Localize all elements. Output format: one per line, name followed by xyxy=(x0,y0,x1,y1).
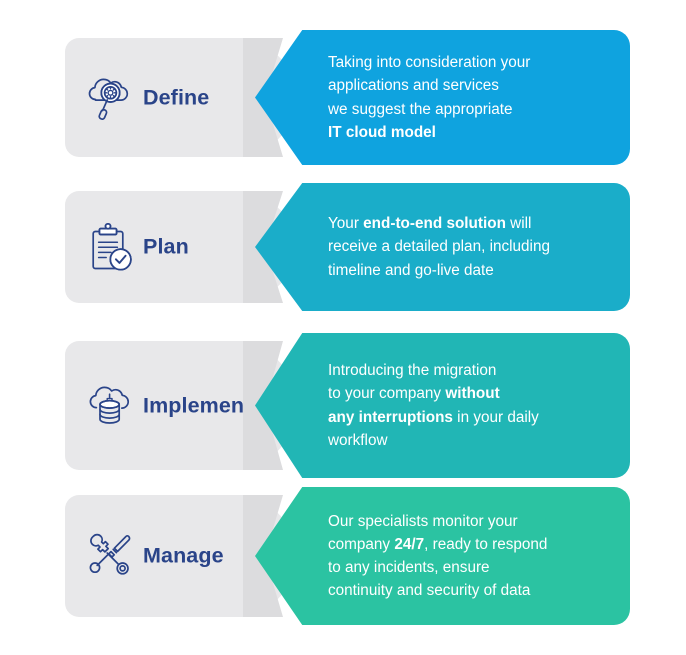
desc-line: timeline and go-live date xyxy=(328,259,550,282)
clipboard-check-icon xyxy=(81,218,139,276)
desc-line: Taking into consideration your xyxy=(328,51,530,74)
desc-line: Introducing the migration xyxy=(328,359,539,382)
step-label-text: Plan xyxy=(143,235,189,260)
step-description-panel-manage: Our specialists monitor yourcompany 24/7… xyxy=(255,487,630,625)
step-description-text: Introducing the migrationto your company… xyxy=(255,359,559,452)
desc-line: receive a detailed plan, including xyxy=(328,235,550,258)
desc-line: Your end-to-end solution will xyxy=(328,212,550,235)
cloud-magnifier-gear-icon xyxy=(81,69,139,127)
step-description-panel-plan: Your end-to-end solution willreceive a d… xyxy=(255,183,630,311)
step-label-text: Manage xyxy=(143,544,224,569)
step-description-panel-define: Taking into consideration yourapplicatio… xyxy=(255,30,630,165)
step-row: Plan Your end-to-end solution willreceiv… xyxy=(0,183,686,311)
step-row: Implement Introducing the migrationto yo… xyxy=(0,333,686,478)
desc-line: applications and services xyxy=(328,74,530,97)
desc-line: to any incidents, ensure xyxy=(328,556,547,579)
step-description-text: Your end-to-end solution willreceive a d… xyxy=(255,212,570,282)
process-steps-infographic: Define Taking into consideration yourapp… xyxy=(0,0,686,655)
step-row: Define Taking into consideration yourapp… xyxy=(0,30,686,165)
desc-line: workflow xyxy=(328,429,539,452)
wrench-screwdriver-icon xyxy=(81,527,139,585)
step-description-text: Our specialists monitor yourcompany 24/7… xyxy=(255,510,567,603)
desc-line: company 24/7, ready to respond xyxy=(328,533,547,556)
step-description-text: Taking into consideration yourapplicatio… xyxy=(255,51,550,144)
cloud-database-icon xyxy=(81,377,139,435)
step-row: Manage Our specialists monitor yourcompa… xyxy=(0,487,686,625)
desc-line: any interruptions in your daily xyxy=(328,406,539,429)
step-description-panel-implement: Introducing the migrationto your company… xyxy=(255,333,630,478)
desc-line: Our specialists monitor your xyxy=(328,510,547,533)
step-label-text: Define xyxy=(143,85,209,110)
desc-line: IT cloud model xyxy=(328,121,530,144)
desc-line: we suggest the appropriate xyxy=(328,98,530,121)
step-label-text: Implement xyxy=(143,393,251,418)
desc-line: to your company without xyxy=(328,382,539,405)
desc-line: continuity and security of data xyxy=(328,579,547,602)
